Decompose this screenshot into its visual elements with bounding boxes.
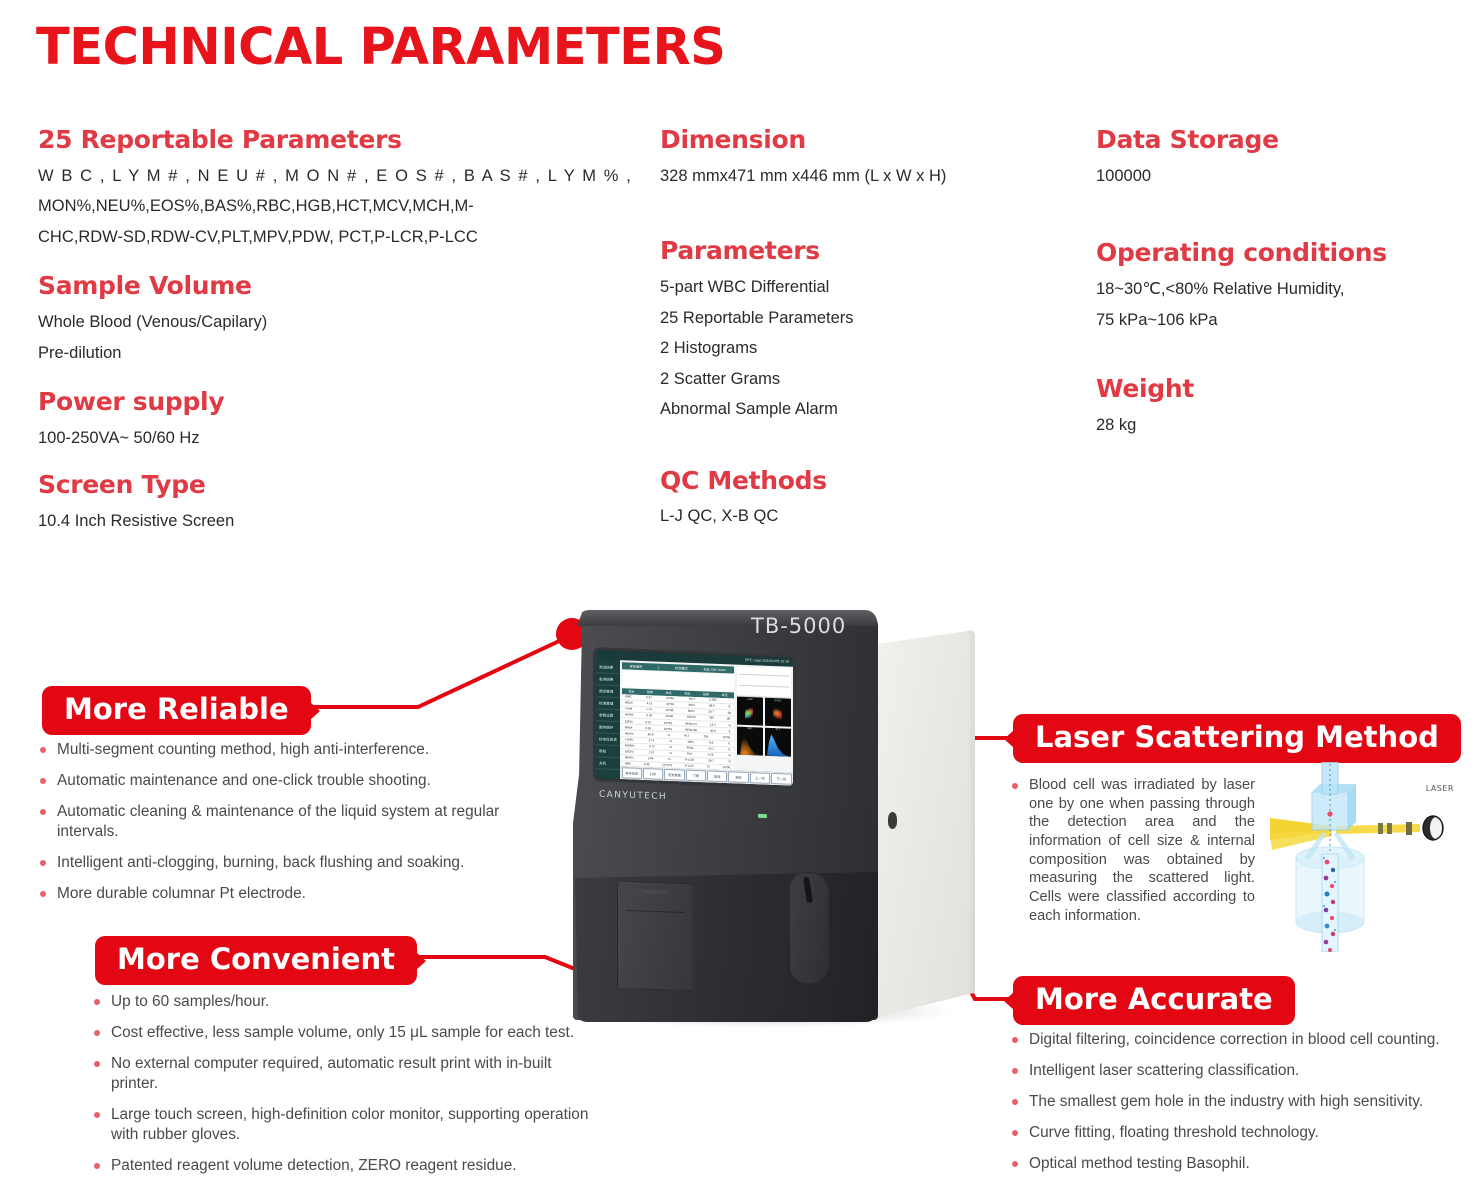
screen-column-header: 项目 bbox=[684, 692, 690, 696]
feature-list-laser: Blood cell was irradiated by laser one b… bbox=[1010, 776, 1255, 936]
feature-item: Intelligent laser scattering classificat… bbox=[1010, 1061, 1476, 1081]
spec-group: Dimension 328 mmx471 mm x446 mm (L x W x… bbox=[660, 126, 1060, 191]
screen-result-cell: % bbox=[668, 757, 671, 762]
screen-result-cell: % bbox=[669, 751, 672, 756]
screen-result-cell: % bbox=[728, 759, 731, 764]
plot-label: PLT bbox=[776, 728, 780, 731]
screen-result-cell: % bbox=[668, 733, 671, 738]
spec-group: QC Methods L-J QC, X-B QC bbox=[660, 467, 1060, 532]
screen-result-cell: LYM% bbox=[625, 737, 633, 742]
screen-action-button[interactable]: 下一页 bbox=[771, 773, 791, 786]
plot-label: DIFF bbox=[747, 698, 752, 701]
screen-result-cell: PLT bbox=[684, 733, 689, 738]
badge-notch-left bbox=[1004, 992, 1014, 1010]
screen-result-cell: 0.05 bbox=[645, 726, 651, 731]
feature-items: Digital filtering, coincidence correctio… bbox=[1010, 1030, 1476, 1174]
screen-result-cell: 0.84 bbox=[648, 756, 654, 761]
screen-result-cell: 4.15 bbox=[647, 701, 653, 706]
histogram-rbc: RBC bbox=[737, 726, 763, 755]
screen-result-cell: 0.30 bbox=[647, 714, 653, 719]
screen-result-cell: 10^9/L bbox=[664, 726, 673, 731]
screen-action-button[interactable]: 保存 bbox=[728, 771, 748, 784]
screen-result-cell: NEU% bbox=[625, 731, 634, 736]
screen-column-header: 项目 bbox=[628, 689, 634, 693]
screen-main-area: 样本编号1检测模式全血 CBC+DIFF 项目结果单位项目结果单位 WBC6.3… bbox=[620, 660, 793, 773]
screen-menu-item[interactable]: 查询结果 bbox=[596, 674, 620, 686]
badge-label: More Accurate bbox=[1035, 982, 1273, 1016]
screen-result-cell: 88.5 bbox=[709, 704, 715, 709]
feature-item: More durable columnar Pt electrode. bbox=[38, 884, 558, 904]
screen-action-button[interactable]: 门限 bbox=[686, 769, 706, 782]
badge-notch-right bbox=[416, 952, 426, 970]
screen-result-cell: 1.74 bbox=[646, 707, 652, 712]
screen-action-button[interactable]: 打印 bbox=[643, 768, 663, 781]
screen-result-cell: 16.1 bbox=[708, 746, 714, 751]
screen-column-header: 单位 bbox=[722, 693, 728, 697]
feature-item: Up to 60 samples/hour. bbox=[92, 992, 592, 1012]
spec-heading: Power supply bbox=[38, 388, 538, 417]
screen-result-cell: 6.31 bbox=[646, 695, 652, 700]
spec-column-left: 25 Reportable Parameters W B C , L Y M #… bbox=[38, 126, 538, 537]
spec-body: 10.4 Inch Resistive Screen bbox=[38, 506, 538, 537]
spec-column-right: Data Storage 100000 Operating conditions… bbox=[1096, 126, 1466, 440]
laser-flowcell-diagram: LASER bbox=[1270, 762, 1470, 952]
spec-group: Parameters 5-part WBC Differential 25 Re… bbox=[660, 237, 1060, 424]
feature-item: Automatic cleaning & maintenance of the … bbox=[38, 802, 558, 842]
screen-result-cell: % bbox=[669, 745, 672, 750]
spec-line: 10.4 Inch Resistive Screen bbox=[38, 506, 538, 537]
spec-column-middle: Dimension 328 mmx471 mm x446 mm (L x W x… bbox=[660, 126, 1060, 532]
screen-result-cell: 13.2 bbox=[710, 722, 716, 727]
screen-result-cell: 10^9/L bbox=[665, 714, 674, 719]
screen-result-cell: 10^9/L bbox=[666, 708, 675, 713]
machine-sample-probe-bay bbox=[789, 871, 829, 984]
screen-result-cell: 40.8 bbox=[710, 728, 716, 733]
screen-menu-item[interactable]: 服务维护 bbox=[596, 722, 620, 734]
spec-heading: 25 Reportable Parameters bbox=[38, 126, 538, 155]
screen-result-cell: 254 bbox=[703, 734, 708, 739]
screen-result-cell: 0.24 bbox=[708, 752, 714, 757]
spec-heading: Screen Type bbox=[38, 471, 538, 500]
machine-right-panel bbox=[865, 630, 975, 1020]
plot-label: RBC bbox=[748, 727, 753, 730]
badge-more-convenient: More Convenient bbox=[95, 936, 417, 985]
screen-result-cell: PDW bbox=[687, 746, 694, 751]
feature-item: Automatic maintenance and one-click trou… bbox=[38, 771, 558, 791]
screen-result-cell: g/L bbox=[727, 717, 731, 722]
screen-result-cell: pg bbox=[728, 711, 731, 716]
badge-label: More Reliable bbox=[64, 692, 289, 726]
feature-item: Optical method testing Basophil. bbox=[1010, 1154, 1476, 1174]
screen-header-cell: 样本编号 bbox=[630, 664, 643, 669]
screen-action-button[interactable]: 样本信息 bbox=[622, 767, 642, 780]
laser-source-label: LASER bbox=[1426, 784, 1454, 793]
machine-door-latch bbox=[888, 812, 897, 829]
feature-list-reliable: Multi-segment counting method, high anti… bbox=[38, 740, 558, 915]
feature-item: Large touch screen, high-definition colo… bbox=[92, 1105, 592, 1145]
screen-action-button[interactable]: 复测 bbox=[707, 770, 727, 783]
feature-item: The smallest gem hole in the industry wi… bbox=[1010, 1092, 1476, 1112]
spec-body: 100000 bbox=[1096, 161, 1466, 192]
spec-group: Power supply 100-250VA~ 50/60 Hz bbox=[38, 388, 538, 453]
screen-result-cell: 29.7 bbox=[708, 710, 714, 715]
page-title: TECHNICAL PARAMETERS bbox=[36, 18, 725, 77]
spec-line: CHC,RDW-SD,RDW-CV,PLT,MPV,PDW, PCT,P-LCR… bbox=[38, 222, 538, 253]
spec-line: 75 kPa~106 kPa bbox=[1096, 305, 1466, 336]
screen-result-cell: 10^9/L bbox=[666, 702, 675, 707]
spec-body: Whole Blood (Venous/Capilary) Pre-diluti… bbox=[38, 307, 538, 368]
power-led-indicator bbox=[758, 814, 767, 818]
feature-item: Blood cell was irradiated by laser one b… bbox=[1010, 776, 1255, 925]
screen-menu-item[interactable]: 测试结果 bbox=[596, 662, 620, 674]
spec-line: 28 kg bbox=[1096, 410, 1466, 441]
spec-group: Sample Volume Whole Blood (Venous/Capila… bbox=[38, 272, 538, 368]
spec-line: 18~30℃,<80% Relative Humidity, bbox=[1096, 274, 1466, 305]
screen-menu-item[interactable]: 质控管理 bbox=[596, 686, 620, 698]
screen-action-button[interactable]: 上一页 bbox=[750, 772, 770, 785]
screen-result-cell: 27.6 bbox=[649, 738, 655, 743]
spec-line: MON%,NEU%,EOS%,BAS%,RBC,HGB,HCT,MCV,MCH,… bbox=[38, 191, 538, 222]
screen-result-cell: MON# bbox=[625, 713, 633, 718]
spec-line: Whole Blood (Venous/Capilary) bbox=[38, 307, 538, 338]
spec-line: 25 Reportable Parameters bbox=[660, 303, 1060, 334]
feature-items: Multi-segment counting method, high anti… bbox=[38, 740, 558, 904]
scatter-plot-baso: BASO bbox=[765, 698, 791, 727]
screen-result-cell: MCHC bbox=[687, 715, 696, 720]
screen-result-cell: BAS% bbox=[625, 755, 633, 760]
screen-result-cell: MPV bbox=[688, 739, 694, 744]
badge-laser-scattering-method: Laser Scattering Method bbox=[1013, 714, 1461, 763]
badge-more-reliable: More Reliable bbox=[42, 686, 311, 735]
spec-line: 100-250VA~ 50/60 Hz bbox=[38, 423, 538, 454]
screen-result-cell: fL bbox=[729, 747, 731, 752]
spec-heading: Data Storage bbox=[1096, 126, 1466, 155]
feature-item: Patented reagent volume detection, ZERO … bbox=[92, 1156, 592, 1176]
screen-result-cell: NEU# bbox=[625, 701, 633, 706]
screen-side-menu[interactable]: 测试结果查询结果质控管理校准管理参数设置服务维护标本信息表帮助关机 bbox=[596, 659, 620, 779]
screen-result-cell: 4.72 bbox=[649, 744, 655, 749]
spec-line: 328 mmx471 mm x446 mm (L x W x H) bbox=[660, 161, 1060, 192]
screen-menu-item[interactable]: 帮助 bbox=[596, 746, 620, 758]
spec-heading: Parameters bbox=[660, 237, 1060, 266]
feature-items: Up to 60 samples/hour.Cost effective, le… bbox=[92, 992, 592, 1176]
screen-result-cell: % bbox=[728, 753, 731, 758]
screen-result-cell: 0.10 bbox=[646, 720, 652, 725]
screen-results-table: WBC6.3110^9/LHCT0.385NEU#4.1510^9/LMCV88… bbox=[622, 694, 734, 769]
scatter-plot-diff: DIFF bbox=[737, 697, 763, 726]
badge-label: More Convenient bbox=[117, 942, 395, 976]
spec-line: 2 Scatter Grams bbox=[660, 364, 1060, 395]
screen-result-cell: EOS% bbox=[625, 749, 634, 754]
spec-heading: Operating conditions bbox=[1096, 239, 1466, 268]
spec-heading: Dimension bbox=[660, 126, 1060, 155]
feature-item: Multi-segment counting method, high anti… bbox=[38, 740, 558, 760]
spec-line: 100000 bbox=[1096, 161, 1466, 192]
screen-result-cell: 10^9/L bbox=[722, 735, 731, 740]
screen-result-cell: LYM# bbox=[625, 707, 632, 712]
screen-result-cell: P-LCR bbox=[685, 758, 694, 763]
screen-column-header: 单位 bbox=[666, 691, 672, 695]
spec-body: 100-250VA~ 50/60 Hz bbox=[38, 423, 538, 454]
screen-result-cell: WBC bbox=[625, 695, 632, 700]
screen-result-cell: EOS# bbox=[625, 719, 633, 724]
spec-line: 2 Histograms bbox=[660, 333, 1060, 364]
spec-group: Screen Type 10.4 Inch Resistive Screen bbox=[38, 471, 538, 536]
screen-result-cell: HCT bbox=[689, 697, 695, 702]
screen-menu-item[interactable]: 关机 bbox=[596, 758, 620, 770]
technical-parameters-page: TECHNICAL PARAMETERS 25 Reportable Param… bbox=[0, 0, 1476, 1194]
spec-body: W B C , L Y M # , N E U # , M O N # , E … bbox=[38, 161, 538, 253]
screen-result-cell: 28.7 bbox=[708, 758, 714, 763]
screen-result-cell: MON% bbox=[625, 743, 634, 748]
spec-heading: Weight bbox=[1096, 375, 1466, 404]
feature-item: Digital filtering, coincidence correctio… bbox=[1010, 1030, 1476, 1050]
feature-item: Curve fitting, floating threshold techno… bbox=[1010, 1123, 1476, 1143]
screen-result-cell: MCV bbox=[689, 703, 695, 708]
spec-group: Operating conditions 18~30℃,<80% Relativ… bbox=[1096, 239, 1466, 335]
feature-list-accurate: Digital filtering, coincidence correctio… bbox=[1010, 1030, 1476, 1185]
spec-line: Pre-dilution bbox=[38, 338, 538, 369]
feature-list-convenient: Up to 60 samples/hour.Cost effective, le… bbox=[92, 992, 592, 1187]
screen-header-cell: 检测模式 bbox=[675, 665, 688, 670]
screen-result-cell: PCT bbox=[687, 752, 693, 757]
plot-label: BASO bbox=[775, 699, 782, 702]
screen-result-cell: fL bbox=[729, 741, 731, 746]
feature-items: Blood cell was irradiated by laser one b… bbox=[1010, 776, 1255, 925]
badge-label: Laser Scattering Method bbox=[1035, 720, 1439, 754]
screen-result-cell: fL bbox=[729, 729, 731, 734]
screen-result-cell: RDW-CV bbox=[685, 721, 697, 726]
screen-menu-item[interactable]: 校准管理 bbox=[596, 698, 620, 710]
spec-body: 5-part WBC Differential 25 Reportable Pa… bbox=[660, 272, 1060, 425]
screen-right-panel bbox=[737, 667, 791, 697]
spec-group: Data Storage 100000 bbox=[1096, 126, 1466, 191]
screen-result-cell: RDW-SD bbox=[685, 727, 697, 732]
screen-menu-item[interactable]: 标本信息表 bbox=[596, 734, 620, 746]
screen-result-cell: MCH bbox=[688, 709, 695, 714]
screen-result-cell: 65.8 bbox=[648, 732, 654, 737]
feature-item: Intelligent anti-clogging, burning, back… bbox=[38, 853, 558, 873]
screen-result-cell: 10^9/L bbox=[664, 720, 673, 725]
spec-body: 28 kg bbox=[1096, 410, 1466, 441]
analyzer-machine-illustration: TB-5000 25℃ caget 2024/04/05 15:16 测试结果查… bbox=[555, 596, 975, 1066]
screen-column-header: 结果 bbox=[647, 690, 653, 694]
badge-notch-left bbox=[1004, 730, 1014, 748]
screen-menu-item[interactable]: 参数设置 bbox=[596, 710, 620, 722]
spec-body: L-J QC, X-B QC bbox=[660, 501, 1060, 532]
spec-body: 18~30℃,<80% Relative Humidity, 75 kPa~10… bbox=[1096, 274, 1466, 335]
screen-result-cell: BAS# bbox=[625, 725, 632, 730]
feature-item: Cost effective, less sample volume, only… bbox=[92, 1023, 592, 1043]
badge-notch-right bbox=[310, 702, 320, 720]
spec-heading: QC Methods bbox=[660, 467, 1060, 496]
screen-plots: DIFF BASO RBC PLT bbox=[737, 697, 791, 757]
machine-model-label: TB-5000 bbox=[751, 614, 846, 638]
machine-touch-screen[interactable]: 25℃ caget 2024/04/05 15:16 测试结果查询结果质控管理校… bbox=[596, 650, 793, 786]
screen-result-cell: % bbox=[670, 739, 673, 744]
machine-printer-drawer bbox=[617, 881, 693, 992]
screen-header-cell: 1 bbox=[658, 665, 660, 669]
spec-heading: Sample Volume bbox=[38, 272, 538, 301]
screen-column-header: 结果 bbox=[703, 692, 709, 696]
spec-line: W B C , L Y M # , N E U # , M O N # , E … bbox=[38, 161, 538, 192]
screen-result-cell: fL bbox=[729, 705, 731, 710]
histogram-plt: PLT bbox=[765, 727, 791, 756]
feature-item: No external computer required, automatic… bbox=[92, 1054, 592, 1094]
screen-result-cell: 9.6 bbox=[709, 740, 713, 745]
spec-line: L-J QC, X-B QC bbox=[660, 501, 1060, 532]
screen-result-cell: 1.07 bbox=[649, 750, 655, 755]
screen-result-cell: % bbox=[728, 723, 731, 728]
badge-more-accurate: More Accurate bbox=[1013, 976, 1295, 1025]
spec-body: 328 mmx471 mm x446 mm (L x W x H) bbox=[660, 161, 1060, 192]
spec-group: 25 Reportable Parameters W B C , L Y M #… bbox=[38, 126, 538, 252]
spec-line: 5-part WBC Differential bbox=[660, 272, 1060, 303]
screen-header-cell: 全血 CBC+DIFF bbox=[703, 666, 726, 672]
screen-result-cell: 10^9/L bbox=[666, 696, 675, 701]
spec-group: Weight 28 kg bbox=[1096, 375, 1466, 440]
spec-line: Abnormal Sample Alarm bbox=[660, 394, 1060, 425]
screen-action-button[interactable]: 历史数据 bbox=[664, 768, 684, 781]
screen-result-cell: 0.385 bbox=[709, 698, 716, 703]
screen-result-cell: 335 bbox=[709, 716, 714, 721]
